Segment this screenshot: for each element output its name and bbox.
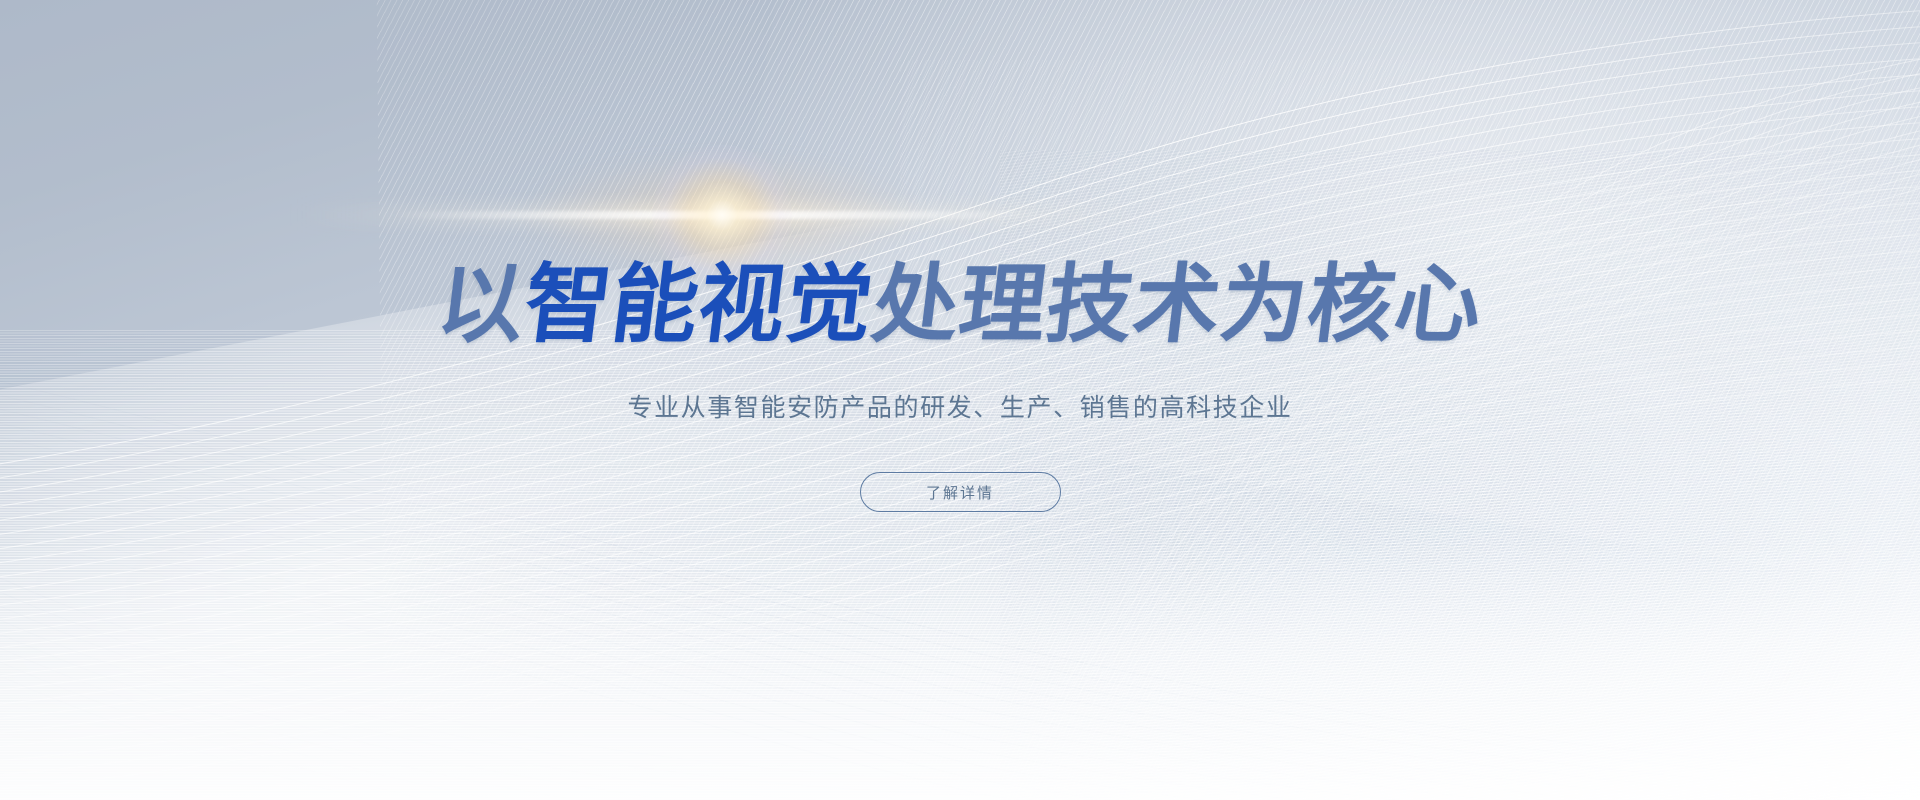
hero-banner: 以智能视觉处理技术为核心 专业从事智能安防产品的研发、生产、销售的高科技企业 了… — [0, 0, 1920, 800]
hero-content: 以智能视觉处理技术为核心 专业从事智能安防产品的研发、生产、销售的高科技企业 了… — [0, 0, 1920, 800]
page-title: 以智能视觉处理技术为核心 — [433, 262, 1488, 348]
headline-segment-accent: 智能视觉 — [519, 257, 879, 353]
learn-more-button[interactable]: 了解详情 — [860, 472, 1061, 512]
headline-segment-lead: 以 — [432, 257, 531, 353]
headline-segment-tail: 处理技术为核心 — [867, 257, 1488, 353]
hero-subtitle: 专业从事智能安防产品的研发、生产、销售的高科技企业 — [627, 388, 1292, 424]
